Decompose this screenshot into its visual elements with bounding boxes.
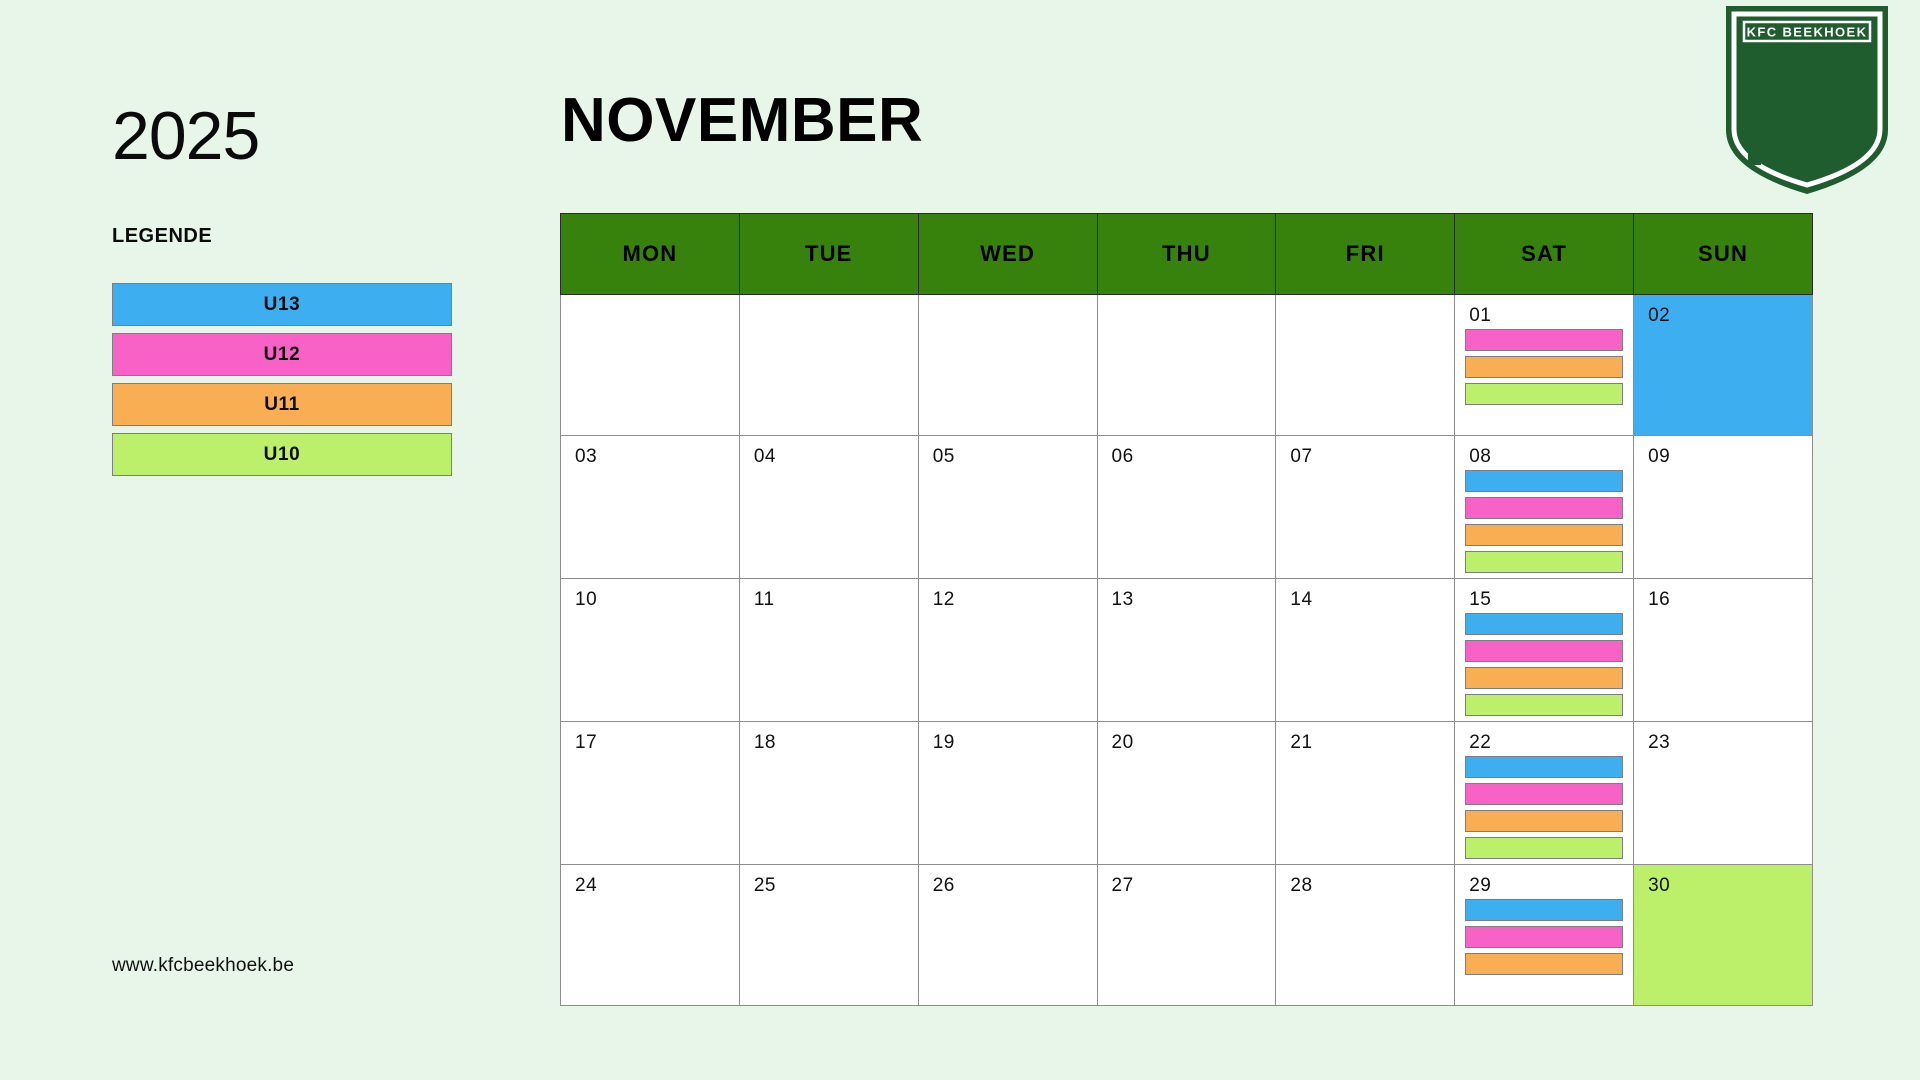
day-cell-24[interactable]: 24 [561,865,740,1006]
weekday-header-fri: FRI [1276,214,1455,295]
legend-item-label: U13 [264,294,301,316]
event-bar-u12[interactable] [1465,640,1623,662]
day-cell-11[interactable]: 11 [739,579,918,722]
event-bar-u11[interactable] [1465,667,1623,689]
event-bar-u13[interactable] [1465,470,1623,492]
day-number: 27 [1098,865,1276,897]
event-bars [1455,468,1633,573]
day-cell-22[interactable]: 22 [1455,722,1634,865]
legend-title: LEGENDE [112,225,212,248]
weekday-header-mon: MON [561,214,740,295]
day-number: 03 [561,436,739,468]
day-number: 24 [561,865,739,897]
day-number: 11 [740,579,918,611]
calendar-body: 0102030405060708091011121314151617181920… [561,295,1813,1006]
event-bars [1455,754,1633,859]
day-number: 15 [1455,579,1633,611]
day-number: 07 [1276,436,1454,468]
day-cell-16[interactable]: 16 [1634,579,1813,722]
day-number: 10 [561,579,739,611]
legend-list: U13U12U11U10 [112,283,452,483]
event-bar-u11[interactable] [1465,810,1623,832]
day-cell-05[interactable]: 05 [918,436,1097,579]
day-number: 25 [740,865,918,897]
day-number: 17 [561,722,739,754]
day-number: 30 [1634,865,1812,897]
day-cell-27[interactable]: 27 [1097,865,1276,1006]
legend-item-u10[interactable]: U10 [112,433,452,476]
day-number: 20 [1098,722,1276,754]
legend-item-label: U12 [264,344,301,366]
event-bar-u10[interactable] [1465,551,1623,573]
weekday-header-thu: THU [1097,214,1276,295]
day-number: 12 [919,579,1097,611]
weekday-header-sat: SAT [1455,214,1634,295]
logo-banner-text: KFC BEEKHOEK [1747,25,1868,40]
event-bar-u11[interactable] [1465,356,1623,378]
day-cell-empty [561,295,740,436]
day-number: 09 [1634,436,1812,468]
day-number: 18 [740,722,918,754]
event-bar-u10[interactable] [1465,694,1623,716]
day-number: 23 [1634,722,1812,754]
day-cell-08[interactable]: 08 [1455,436,1634,579]
day-cell-empty [739,295,918,436]
day-number: 21 [1276,722,1454,754]
day-cell-empty [918,295,1097,436]
day-cell-23[interactable]: 23 [1634,722,1813,865]
day-number: 13 [1098,579,1276,611]
day-number: 28 [1276,865,1454,897]
website-url[interactable]: www.kfcbeekhoek.be [112,955,294,977]
event-bars [1455,611,1633,716]
day-number: 02 [1634,295,1812,327]
day-cell-07[interactable]: 07 [1276,436,1455,579]
day-number: 05 [919,436,1097,468]
day-cell-14[interactable]: 14 [1276,579,1455,722]
day-cell-26[interactable]: 26 [918,865,1097,1006]
day-cell-03[interactable]: 03 [561,436,740,579]
weekday-header-sun: SUN [1634,214,1813,295]
day-cell-13[interactable]: 13 [1097,579,1276,722]
day-cell-09[interactable]: 09 [1634,436,1813,579]
year-heading: 2025 [112,102,259,170]
day-number: 29 [1455,865,1633,897]
event-bar-u10[interactable] [1465,837,1623,859]
day-cell-29[interactable]: 29 [1455,865,1634,1006]
event-bar-u13[interactable] [1465,613,1623,635]
event-bar-u11[interactable] [1465,524,1623,546]
day-cell-01[interactable]: 01 [1455,295,1634,436]
calendar-week-row: 03040506070809 [561,436,1813,579]
day-cell-19[interactable]: 19 [918,722,1097,865]
day-number: 06 [1098,436,1276,468]
legend-item-u11[interactable]: U11 [112,383,452,426]
calendar-week-row: 10111213141516 [561,579,1813,722]
day-cell-10[interactable]: 10 [561,579,740,722]
day-cell-18[interactable]: 18 [739,722,918,865]
legend-item-label: U10 [264,444,301,466]
day-cell-04[interactable]: 04 [739,436,918,579]
weekday-header-tue: TUE [739,214,918,295]
day-cell-empty [1097,295,1276,436]
day-cell-17[interactable]: 17 [561,722,740,865]
event-bars [1455,897,1633,975]
calendar-week-row: 17181920212223 [561,722,1813,865]
event-bar-u12[interactable] [1465,926,1623,948]
legend-item-u12[interactable]: U12 [112,333,452,376]
event-bar-u13[interactable] [1465,756,1623,778]
weekday-header-wed: WED [918,214,1097,295]
day-number: 16 [1634,579,1812,611]
event-bar-u13[interactable] [1465,899,1623,921]
day-number: 22 [1455,722,1633,754]
calendar-table: MONTUEWEDTHUFRISATSUN 010203040506070809… [560,213,1813,1006]
day-number: 19 [919,722,1097,754]
club-logo: KFC BEEKHOEK [1722,2,1892,198]
day-cell-28[interactable]: 28 [1276,865,1455,1006]
event-bars [1455,327,1633,405]
event-bar-u12[interactable] [1465,497,1623,519]
day-cell-30[interactable]: 30 [1634,865,1813,1006]
day-number: 14 [1276,579,1454,611]
day-cell-20[interactable]: 20 [1097,722,1276,865]
legend-item-u13[interactable]: U13 [112,283,452,326]
day-cell-25[interactable]: 25 [739,865,918,1006]
day-cell-06[interactable]: 06 [1097,436,1276,579]
day-number: 04 [740,436,918,468]
event-bar-u11[interactable] [1465,953,1623,975]
day-cell-02[interactable]: 02 [1634,295,1813,436]
day-number: 26 [919,865,1097,897]
day-cell-15[interactable]: 15 [1455,579,1634,722]
legend-item-label: U11 [264,394,300,416]
day-cell-21[interactable]: 21 [1276,722,1455,865]
event-bar-u10[interactable] [1465,383,1623,405]
calendar-week-row: 24252627282930 [561,865,1813,1006]
calendar-header-row: MONTUEWEDTHUFRISATSUN [561,214,1813,295]
day-number: 08 [1455,436,1633,468]
day-number: 01 [1455,295,1633,327]
day-cell-empty [1276,295,1455,436]
event-bar-u12[interactable] [1465,783,1623,805]
calendar-week-row: 0102 [561,295,1813,436]
month-title: NOVEMBER [561,90,923,152]
event-bar-u12[interactable] [1465,329,1623,351]
day-cell-12[interactable]: 12 [918,579,1097,722]
